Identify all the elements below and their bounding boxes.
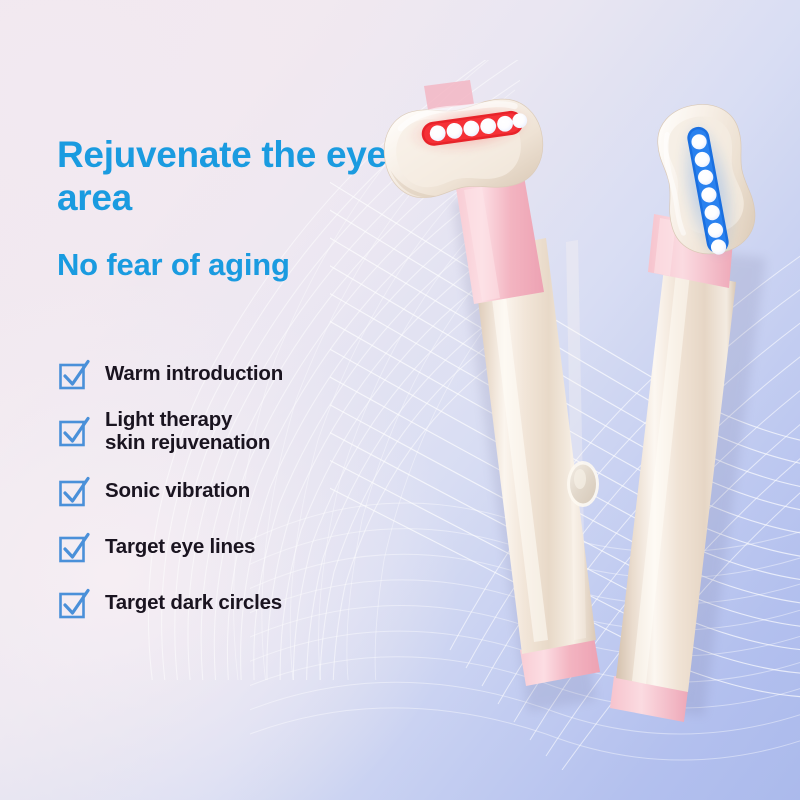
checkbox-checked-icon[interactable] — [57, 357, 91, 391]
checkbox-checked-icon[interactable] — [57, 586, 91, 620]
red-light-wand — [379, 80, 600, 712]
power-button[interactable] — [567, 461, 599, 507]
checkbox-checked-icon[interactable] — [57, 414, 91, 448]
feature-list: Warm introduction Light therapy skin rej… — [57, 352, 387, 637]
feature-item-target-eye-lines[interactable]: Target eye lines — [57, 525, 387, 569]
feature-label: Target dark circles — [105, 591, 282, 614]
feature-item-light-therapy[interactable]: Light therapy skin rejuvenation — [57, 408, 387, 455]
feature-label: Sonic vibration — [105, 479, 250, 502]
feature-item-warm-introduction[interactable]: Warm introduction — [57, 352, 387, 396]
checkbox-checked-icon[interactable] — [57, 530, 91, 564]
checkbox-checked-icon[interactable] — [57, 474, 91, 508]
feature-item-sonic-vibration[interactable]: Sonic vibration — [57, 469, 387, 513]
feature-label: Light therapy skin rejuvenation — [105, 408, 270, 455]
feature-item-target-dark-circles[interactable]: Target dark circles — [57, 581, 387, 625]
blue-light-wand — [610, 98, 766, 722]
feature-label: Target eye lines — [105, 535, 255, 558]
product-poster: Rejuvenate the eye area No fear of aging — [0, 0, 800, 800]
feature-label: Warm introduction — [105, 362, 283, 385]
